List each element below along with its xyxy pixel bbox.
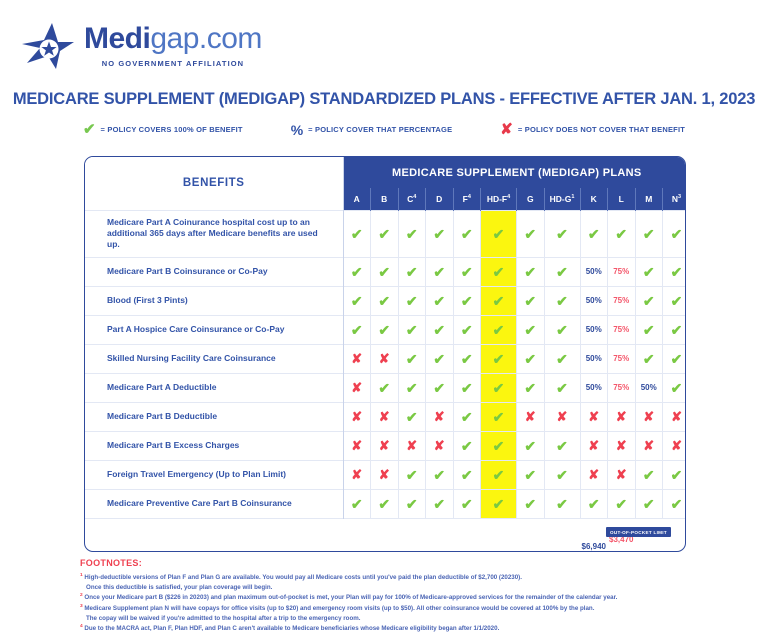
table-body: Medicare Part A Coinurance hospital cost… <box>85 210 686 518</box>
cell-not-covered-cross-icon: ✘ <box>635 402 663 431</box>
cell-not-covered-cross-icon: ✘ <box>371 402 399 431</box>
cell-not-covered-cross-icon: ✘ <box>580 460 608 489</box>
cell-covered-check-icon: ✔ <box>663 210 687 257</box>
cell-covered-check-icon: ✔ <box>635 315 663 344</box>
table-foot: OUT-OF-POCKET LIMIT$6,940$3,470 <box>85 518 686 551</box>
green-check-icon: ✔ <box>406 409 418 425</box>
table-row: Blood (First 3 Pints)✔✔✔✔✔✔✔✔50%75%✔✔ <box>85 286 686 315</box>
cell-covered-check-icon: ✔ <box>517 315 545 344</box>
cell-covered-check-icon: ✔ <box>517 373 545 402</box>
benefit-label: Medicare Part A Deductible <box>85 373 343 402</box>
cell-covered-check-icon: ✔ <box>398 257 426 286</box>
cell-covered-check-icon: ✔ <box>544 460 580 489</box>
green-check-icon: ✔ <box>671 496 683 512</box>
percentage-label: 50% <box>641 383 657 392</box>
cell-covered-check-icon: ✔ <box>398 315 426 344</box>
green-check-icon: ✔ <box>493 496 505 512</box>
cell-covered-check-icon: ✔ <box>517 431 545 460</box>
percentage-label: 75% <box>613 354 629 363</box>
cell-covered-check-icon: ✔ <box>481 315 517 344</box>
cell-covered-check-icon: ✔ <box>635 489 663 518</box>
cell-not-covered-cross-icon: ✘ <box>343 431 371 460</box>
out-of-pocket-limit-badge: OUT-OF-POCKET LIMIT <box>606 527 671 537</box>
green-check-icon: ✔ <box>378 264 390 280</box>
cell-covered-check-icon: ✔ <box>371 210 399 257</box>
footnote-item-continued: The copay will be waived if you're admit… <box>80 614 768 624</box>
green-check-icon: ✔ <box>378 226 390 242</box>
green-check-icon: ✔ <box>556 380 568 396</box>
table-row: Medicare Part B Excess Charges✘✘✘✘✔✔✔✔✘✘… <box>85 431 686 460</box>
green-check-icon: ✔ <box>461 226 473 242</box>
cell-percentage-value: 50% <box>580 344 608 373</box>
plan-column-header-d[interactable]: D <box>426 188 454 210</box>
green-check-icon: ✔ <box>406 467 418 483</box>
green-check-icon: ✔ <box>406 226 418 242</box>
green-check-icon: ✔ <box>524 351 536 367</box>
cell-covered-check-icon: ✔ <box>398 210 426 257</box>
table-row: Medicare Preventive Care Part B Coinsura… <box>85 489 686 518</box>
cell-covered-check-icon: ✔ <box>544 373 580 402</box>
green-check-icon: ✔ <box>643 293 655 309</box>
out-of-pocket-row: OUT-OF-POCKET LIMIT$6,940$3,470 <box>85 518 686 551</box>
cell-covered-check-icon: ✔ <box>544 489 580 518</box>
plan-column-header-k[interactable]: K <box>580 188 608 210</box>
green-check-icon: ✔ <box>556 264 568 280</box>
cell-percentage-value: 50% <box>635 373 663 402</box>
cell-not-covered-cross-icon: ✘ <box>371 431 399 460</box>
green-check-icon: ✔ <box>406 322 418 338</box>
medigap-plans-infographic: Medigap.com NO GOVERNMENT AFFILIATION ME… <box>0 0 768 640</box>
cell-covered-check-icon: ✔ <box>663 460 687 489</box>
green-check-icon: ✔ <box>615 496 627 512</box>
green-check-icon: ✔ <box>588 226 600 242</box>
table-head-row-top: BENEFITS MEDICARE SUPPLEMENT (MEDIGAP) P… <box>85 157 686 188</box>
table-row: Part A Hospice Care Coinsurance or Co-Pa… <box>85 315 686 344</box>
green-check-icon: ✔ <box>524 264 536 280</box>
cell-covered-check-icon: ✔ <box>481 286 517 315</box>
cell-covered-check-icon: ✔ <box>343 489 371 518</box>
green-check-icon: ✔ <box>671 264 683 280</box>
green-check-icon: ✔ <box>461 409 473 425</box>
cell-not-covered-cross-icon: ✘ <box>371 344 399 373</box>
green-check-icon: ✔ <box>351 264 363 280</box>
cell-covered-check-icon: ✔ <box>481 489 517 518</box>
cell-covered-check-icon: ✔ <box>544 315 580 344</box>
cell-covered-check-icon: ✔ <box>663 489 687 518</box>
cell-covered-check-icon: ✔ <box>580 210 608 257</box>
green-check-icon: ✔ <box>406 380 418 396</box>
cell-not-covered-cross-icon: ✘ <box>343 344 371 373</box>
green-check-icon: ✔ <box>378 322 390 338</box>
cell-percentage-value: 75% <box>608 257 636 286</box>
red-cross-icon: ✘ <box>643 438 654 453</box>
benefit-label: Medicare Part B Deductible <box>85 402 343 431</box>
green-check-icon: ✔ <box>83 122 96 137</box>
cell-covered-check-icon: ✔ <box>663 344 687 373</box>
cell-covered-check-icon: ✔ <box>481 402 517 431</box>
plans-comparison-table: BENEFITS MEDICARE SUPPLEMENT (MEDIGAP) P… <box>85 157 686 551</box>
benefit-label: Medicare Preventive Care Part B Coinsura… <box>85 489 343 518</box>
legend: ✔ = POLICY COVERS 100% OF BENEFIT % = PO… <box>0 122 768 137</box>
cell-not-covered-cross-icon: ✘ <box>371 460 399 489</box>
plan-column-header-f[interactable]: F4 <box>453 188 481 210</box>
benefit-label: Medicare Part B Excess Charges <box>85 431 343 460</box>
cell-covered-check-icon: ✔ <box>343 315 371 344</box>
cell-covered-check-icon: ✔ <box>481 460 517 489</box>
table-row: Foreign Travel Emergency (Up to Plan Lim… <box>85 460 686 489</box>
red-cross-icon: ✘ <box>351 438 362 453</box>
green-check-icon: ✔ <box>406 496 418 512</box>
cell-covered-check-icon: ✔ <box>453 210 481 257</box>
legend-item-covered: ✔ = POLICY COVERS 100% OF BENEFIT <box>83 122 243 137</box>
plan-column-header-l[interactable]: L <box>608 188 636 210</box>
cell-covered-check-icon: ✔ <box>481 257 517 286</box>
green-check-icon: ✔ <box>556 293 568 309</box>
plans-table-card: BENEFITS MEDICARE SUPPLEMENT (MEDIGAP) P… <box>84 156 686 552</box>
cell-not-covered-cross-icon: ✘ <box>663 402 687 431</box>
percentage-label: 50% <box>586 296 602 305</box>
cell-covered-check-icon: ✔ <box>481 431 517 460</box>
cell-covered-check-icon: ✔ <box>635 286 663 315</box>
red-cross-icon: ✘ <box>588 409 599 424</box>
cell-covered-check-icon: ✔ <box>453 431 481 460</box>
green-check-icon: ✔ <box>406 351 418 367</box>
page-title: MEDICARE SUPPLEMENT (MEDIGAP) STANDARDIZ… <box>0 90 768 109</box>
red-cross-icon: ✘ <box>351 409 362 424</box>
plans-group-header: MEDICARE SUPPLEMENT (MEDIGAP) PLANS <box>343 157 686 188</box>
cell-not-covered-cross-icon: ✘ <box>343 460 371 489</box>
footnote-item: 2 Once your Medicare part B ($226 in 202… <box>80 592 768 603</box>
red-cross-icon: ✘ <box>379 438 390 453</box>
green-check-icon: ✔ <box>556 322 568 338</box>
cell-covered-check-icon: ✔ <box>453 460 481 489</box>
cell-covered-check-icon: ✔ <box>517 489 545 518</box>
cell-covered-check-icon: ✔ <box>453 286 481 315</box>
cell-covered-check-icon: ✔ <box>481 210 517 257</box>
green-check-icon: ✔ <box>493 467 505 483</box>
cell-not-covered-cross-icon: ✘ <box>426 431 454 460</box>
footnote-ref: 4 <box>507 194 510 200</box>
table-head: BENEFITS MEDICARE SUPPLEMENT (MEDIGAP) P… <box>85 157 686 210</box>
footnote-number: 1 <box>80 573 83 578</box>
red-cross-icon: ✘ <box>351 467 362 482</box>
percent-icon: % <box>291 123 303 137</box>
benefits-column-header: BENEFITS <box>85 157 343 210</box>
cell-covered-check-icon: ✔ <box>635 210 663 257</box>
red-cross-icon: ✘ <box>616 467 627 482</box>
cell-covered-check-icon: ✔ <box>398 402 426 431</box>
green-check-icon: ✔ <box>643 322 655 338</box>
green-check-icon: ✔ <box>433 264 445 280</box>
cell-covered-check-icon: ✔ <box>426 210 454 257</box>
green-check-icon: ✔ <box>671 380 683 396</box>
footnotes-title: FOOTNOTES: <box>80 558 768 568</box>
footnote-number: 3 <box>80 604 83 609</box>
table-row: Medicare Part B Deductible✘✘✔✘✔✔✘✘✘✘✘✘ <box>85 402 686 431</box>
green-check-icon: ✔ <box>556 351 568 367</box>
green-check-icon: ✔ <box>433 380 445 396</box>
cell-percentage-value: 75% <box>608 373 636 402</box>
percentage-label: 75% <box>613 296 629 305</box>
red-cross-icon: ✘ <box>351 380 362 395</box>
green-check-icon: ✔ <box>433 496 445 512</box>
cell-covered-check-icon: ✔ <box>517 460 545 489</box>
cell-covered-check-icon: ✔ <box>608 210 636 257</box>
table-row: Medicare Part A Deductible✘✔✔✔✔✔✔✔50%75%… <box>85 373 686 402</box>
cell-not-covered-cross-icon: ✘ <box>608 402 636 431</box>
green-check-icon: ✔ <box>351 226 363 242</box>
green-check-icon: ✔ <box>351 496 363 512</box>
benefit-label: Medicare Part A Coinurance hospital cost… <box>85 210 343 257</box>
red-cross-icon: ✘ <box>406 438 417 453</box>
percentage-label: 50% <box>586 267 602 276</box>
cell-not-covered-cross-icon: ✘ <box>608 431 636 460</box>
green-check-icon: ✔ <box>615 226 627 242</box>
footnote-item: 3 Medicare Supplement plan N will have c… <box>80 603 768 614</box>
green-check-icon: ✔ <box>588 496 600 512</box>
plan-column-header-b[interactable]: B <box>371 188 399 210</box>
cell-covered-check-icon: ✔ <box>635 344 663 373</box>
cell-covered-check-icon: ✔ <box>517 210 545 257</box>
out-of-pocket-k-value: $6,940 <box>580 542 608 551</box>
green-check-icon: ✔ <box>671 226 683 242</box>
green-check-icon: ✔ <box>493 264 505 280</box>
green-check-icon: ✔ <box>671 467 683 483</box>
cell-covered-check-icon: ✔ <box>371 373 399 402</box>
cell-covered-check-icon: ✔ <box>453 489 481 518</box>
footnote-number: 4 <box>80 624 83 629</box>
green-check-icon: ✔ <box>643 226 655 242</box>
legend-label-not-covered: = POLICY DOES NOT COVER THAT BENEFIT <box>518 125 685 134</box>
cell-covered-check-icon: ✔ <box>608 489 636 518</box>
green-check-icon: ✔ <box>461 264 473 280</box>
cell-covered-check-icon: ✔ <box>544 286 580 315</box>
percentage-label: 50% <box>586 354 602 363</box>
cell-covered-check-icon: ✔ <box>453 344 481 373</box>
cell-covered-check-icon: ✔ <box>663 373 687 402</box>
footnote-ref: 1 <box>571 194 574 200</box>
plan-column-header-hd-f[interactable]: HD-F4 <box>481 188 517 210</box>
red-cross-icon: ✘ <box>643 409 654 424</box>
cell-covered-check-icon: ✔ <box>426 344 454 373</box>
green-check-icon: ✔ <box>524 496 536 512</box>
brand-name-light: gap.com <box>150 22 262 55</box>
cell-covered-check-icon: ✔ <box>426 373 454 402</box>
cell-covered-check-icon: ✔ <box>426 315 454 344</box>
green-check-icon: ✔ <box>524 293 536 309</box>
cell-covered-check-icon: ✔ <box>481 373 517 402</box>
brand-name-bold: Medi <box>84 22 150 55</box>
benefit-label: Blood (First 3 Pints) <box>85 286 343 315</box>
green-check-icon: ✔ <box>378 293 390 309</box>
star-logo-icon <box>22 22 74 70</box>
plan-column-header-hd-g[interactable]: HD-G1 <box>544 188 580 210</box>
green-check-icon: ✔ <box>461 293 473 309</box>
green-check-icon: ✔ <box>556 467 568 483</box>
cell-not-covered-cross-icon: ✘ <box>580 402 608 431</box>
cell-covered-check-icon: ✔ <box>398 373 426 402</box>
red-cross-icon: ✘ <box>616 409 627 424</box>
cell-not-covered-cross-icon: ✘ <box>517 402 545 431</box>
green-check-icon: ✔ <box>433 226 445 242</box>
green-check-icon: ✔ <box>524 467 536 483</box>
footnote-number: 2 <box>80 593 83 598</box>
cell-covered-check-icon: ✔ <box>426 257 454 286</box>
table-row: Medicare Part A Coinurance hospital cost… <box>85 210 686 257</box>
green-check-icon: ✔ <box>493 380 505 396</box>
cell-covered-check-icon: ✔ <box>663 286 687 315</box>
percentage-label: 75% <box>613 267 629 276</box>
green-check-icon: ✔ <box>493 351 505 367</box>
cell-percentage-value: 50% <box>580 286 608 315</box>
green-check-icon: ✔ <box>643 467 655 483</box>
red-cross-icon: ✘ <box>616 438 627 453</box>
legend-item-not-covered: ✘ = POLICY DOES NOT COVER THAT BENEFIT <box>500 122 685 137</box>
brand-wordmark: Medigap.com <box>84 24 262 54</box>
green-check-icon: ✔ <box>406 264 418 280</box>
plan-column-header-a[interactable]: A <box>343 188 371 210</box>
cell-covered-check-icon: ✔ <box>371 489 399 518</box>
cell-covered-check-icon: ✔ <box>635 257 663 286</box>
footnote-item-continued: Once this deductible is satisfied, your … <box>80 583 768 593</box>
green-check-icon: ✔ <box>671 351 683 367</box>
cell-not-covered-cross-icon: ✘ <box>398 431 426 460</box>
cell-covered-check-icon: ✔ <box>453 402 481 431</box>
cell-percentage-value: 50% <box>580 315 608 344</box>
green-check-icon: ✔ <box>671 293 683 309</box>
green-check-icon: ✔ <box>671 322 683 338</box>
footnotes-list: 1 High-deductible versions of Plan F and… <box>80 572 768 634</box>
red-cross-icon: ✘ <box>671 409 682 424</box>
table-row: Medicare Part B Coinsurance or Co-Pay✔✔✔… <box>85 257 686 286</box>
cell-not-covered-cross-icon: ✘ <box>426 402 454 431</box>
footnote-ref: 4 <box>413 194 416 200</box>
green-check-icon: ✔ <box>524 438 536 454</box>
cell-covered-check-icon: ✔ <box>398 460 426 489</box>
plan-column-header-m[interactable]: M <box>635 188 663 210</box>
percentage-label: 75% <box>613 325 629 334</box>
cell-percentage-value: 50% <box>580 257 608 286</box>
green-check-icon: ✔ <box>406 293 418 309</box>
red-cross-icon: ✘ <box>434 409 445 424</box>
footnote-item: 4 Due to the MACRA act, Plan F, Plan HDF… <box>80 623 768 634</box>
cell-covered-check-icon: ✔ <box>544 431 580 460</box>
benefit-label: Part A Hospice Care Coinsurance or Co-Pa… <box>85 315 343 344</box>
green-check-icon: ✔ <box>556 496 568 512</box>
cell-covered-check-icon: ✔ <box>371 286 399 315</box>
brand-logo[interactable]: Medigap.com NO GOVERNMENT AFFILIATION <box>22 22 262 70</box>
green-check-icon: ✔ <box>524 380 536 396</box>
out-of-pocket-spacer <box>85 518 580 551</box>
green-check-icon: ✔ <box>643 496 655 512</box>
green-check-icon: ✔ <box>524 226 536 242</box>
red-cross-icon: ✘ <box>351 351 362 366</box>
cell-not-covered-cross-icon: ✘ <box>663 431 687 460</box>
cell-covered-check-icon: ✔ <box>453 315 481 344</box>
red-cross-icon: ✘ <box>379 351 390 366</box>
red-cross-icon: ✘ <box>379 467 390 482</box>
cell-percentage-value: 75% <box>608 315 636 344</box>
green-check-icon: ✔ <box>643 351 655 367</box>
cell-covered-check-icon: ✔ <box>398 286 426 315</box>
cell-covered-check-icon: ✔ <box>343 257 371 286</box>
cell-covered-check-icon: ✔ <box>343 286 371 315</box>
footnote-ref: 3 <box>678 194 681 200</box>
table-row: Skilled Nursing Facility Care Coinsuranc… <box>85 344 686 373</box>
cell-covered-check-icon: ✔ <box>481 344 517 373</box>
cell-covered-check-icon: ✔ <box>517 286 545 315</box>
cell-covered-check-icon: ✔ <box>426 286 454 315</box>
green-check-icon: ✔ <box>461 438 473 454</box>
cell-covered-check-icon: ✔ <box>398 344 426 373</box>
cell-covered-check-icon: ✔ <box>544 210 580 257</box>
green-check-icon: ✔ <box>433 351 445 367</box>
green-check-icon: ✔ <box>461 467 473 483</box>
green-check-icon: ✔ <box>493 293 505 309</box>
red-cross-icon: ✘ <box>525 409 536 424</box>
red-cross-icon: ✘ <box>434 438 445 453</box>
red-cross-icon: ✘ <box>379 409 390 424</box>
cell-not-covered-cross-icon: ✘ <box>580 431 608 460</box>
legend-item-percentage: % = POLICY COVER THAT PERCENTAGE <box>291 123 453 137</box>
red-cross-icon: ✘ <box>588 467 599 482</box>
cell-percentage-value: 75% <box>608 344 636 373</box>
plan-column-header-g[interactable]: G <box>517 188 545 210</box>
percentage-label: 50% <box>586 383 602 392</box>
cell-covered-check-icon: ✔ <box>663 257 687 286</box>
cell-covered-check-icon: ✔ <box>544 344 580 373</box>
green-check-icon: ✔ <box>433 293 445 309</box>
cell-not-covered-cross-icon: ✘ <box>343 402 371 431</box>
cell-percentage-value: 75% <box>608 286 636 315</box>
benefit-label: Skilled Nursing Facility Care Coinsuranc… <box>85 344 343 373</box>
cell-percentage-value: 50% <box>580 373 608 402</box>
cell-covered-check-icon: ✔ <box>398 489 426 518</box>
cell-covered-check-icon: ✔ <box>580 489 608 518</box>
cell-covered-check-icon: ✔ <box>371 257 399 286</box>
red-cross-icon: ✘ <box>671 438 682 453</box>
legend-label-percentage: = POLICY COVER THAT PERCENTAGE <box>308 125 452 134</box>
green-check-icon: ✔ <box>461 351 473 367</box>
green-check-icon: ✔ <box>461 380 473 396</box>
red-cross-icon: ✘ <box>588 438 599 453</box>
green-check-icon: ✔ <box>556 438 568 454</box>
cell-covered-check-icon: ✔ <box>663 315 687 344</box>
cell-covered-check-icon: ✔ <box>453 373 481 402</box>
plan-column-header-n[interactable]: N3 <box>663 188 687 210</box>
green-check-icon: ✔ <box>461 322 473 338</box>
green-check-icon: ✔ <box>433 467 445 483</box>
cell-not-covered-cross-icon: ✘ <box>544 402 580 431</box>
red-cross-icon: ✘ <box>500 122 513 137</box>
percentage-label: 75% <box>613 383 629 392</box>
out-of-pocket-k: OUT-OF-POCKET LIMIT$6,940 <box>580 518 608 551</box>
red-cross-icon: ✘ <box>557 409 568 424</box>
cell-covered-check-icon: ✔ <box>426 460 454 489</box>
benefit-label: Foreign Travel Emergency (Up to Plan Lim… <box>85 460 343 489</box>
cell-covered-check-icon: ✔ <box>517 257 545 286</box>
footnotes-section: FOOTNOTES: 1 High-deductible versions of… <box>80 558 768 634</box>
green-check-icon: ✔ <box>351 322 363 338</box>
footnote-ref: 4 <box>468 194 471 200</box>
green-check-icon: ✔ <box>556 226 568 242</box>
cell-covered-check-icon: ✔ <box>544 257 580 286</box>
percentage-label: 50% <box>586 325 602 334</box>
legend-label-covered: = POLICY COVERS 100% OF BENEFIT <box>101 125 243 134</box>
benefit-label: Medicare Part B Coinsurance or Co-Pay <box>85 257 343 286</box>
cell-covered-check-icon: ✔ <box>517 344 545 373</box>
plan-column-header-c[interactable]: C4 <box>398 188 426 210</box>
